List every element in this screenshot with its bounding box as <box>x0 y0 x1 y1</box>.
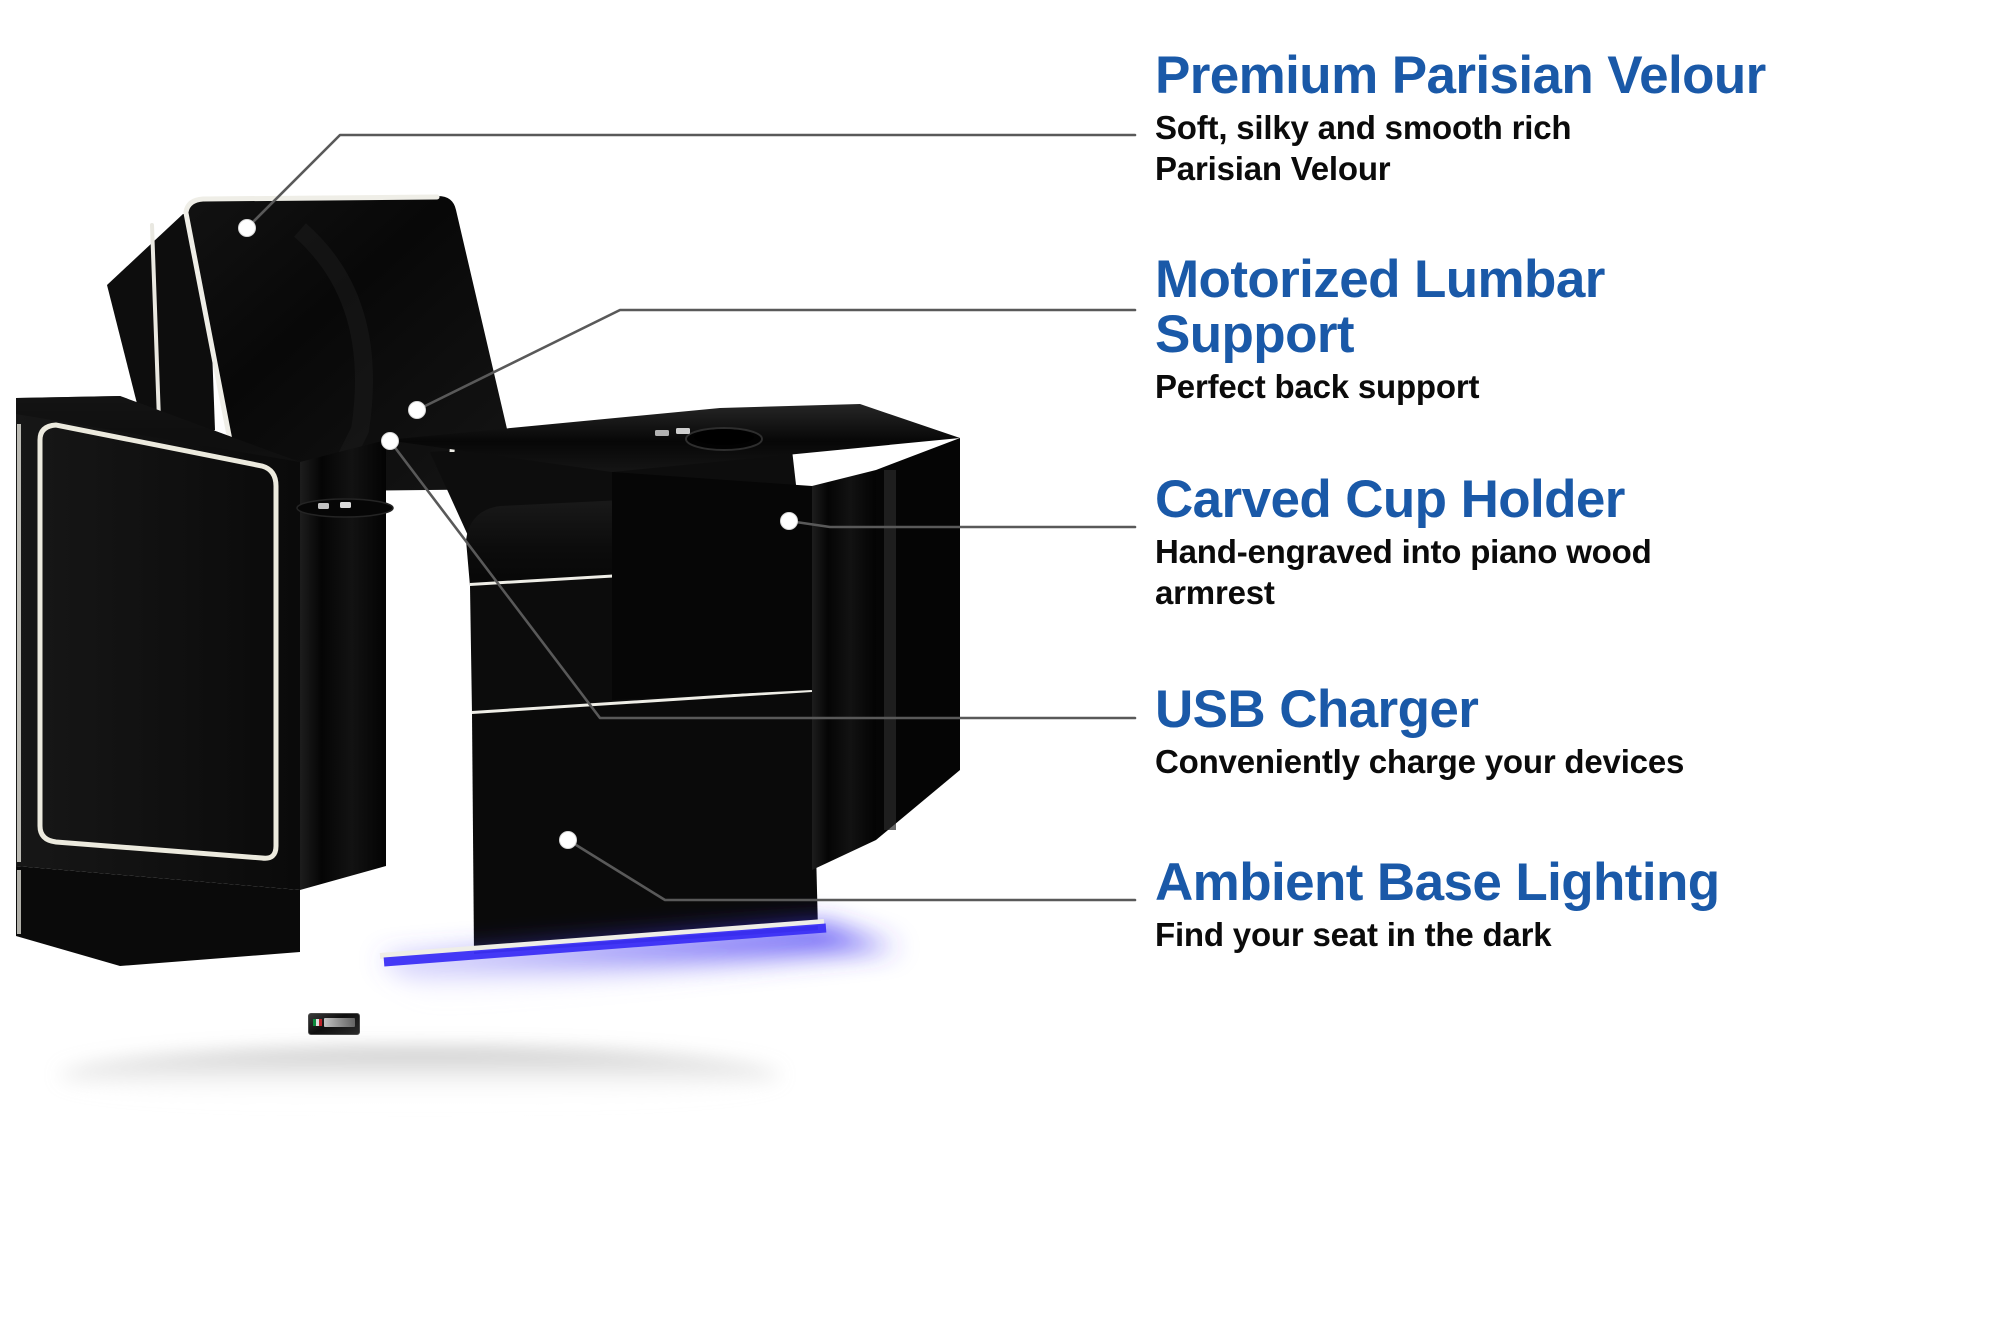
flag-icon <box>313 1019 322 1026</box>
callout-subtitle: Hand-engraved into piano wood armrest <box>1155 532 1985 613</box>
callout-carved-cup-holder: Carved Cup Holder Hand-engraved into pia… <box>1155 472 1985 613</box>
callout-premium-parisian-velour: Premium Parisian Velour Soft, silky and … <box>1155 48 1985 189</box>
product-photo <box>0 0 1120 1180</box>
feature-infographic: Premium Parisian Velour Soft, silky and … <box>0 0 2000 1334</box>
callout-title: USB Charger <box>1155 682 1985 737</box>
control-button-1[interactable] <box>318 503 329 509</box>
brand-wordmark <box>324 1018 355 1027</box>
callout-subtitle: Conveniently charge your devices <box>1155 742 1985 783</box>
brand-badge <box>308 1013 360 1035</box>
callout-motorized-lumbar-support: Motorized Lumbar Support Perfect back su… <box>1155 252 1985 408</box>
callout-subtitle: Perfect back support <box>1155 367 1985 408</box>
left-armrest-outer-panel <box>16 414 300 890</box>
recliner-illustration <box>0 0 1120 1180</box>
callout-title: Carved Cup Holder <box>1155 472 1985 527</box>
callout-title: Premium Parisian Velour <box>1155 48 1985 103</box>
seat-base-skirt <box>472 692 818 954</box>
callout-title: Ambient Base Lighting <box>1155 855 1985 910</box>
cup-holder-inner <box>694 429 754 445</box>
callout-usb-charger: USB Charger Conveniently charge your dev… <box>1155 682 1985 783</box>
callout-ambient-base-lighting: Ambient Base Lighting Find your seat in … <box>1155 855 1985 956</box>
floor-shadow <box>60 1047 780 1103</box>
right-armrest-inner-face <box>812 470 876 870</box>
control-button-2[interactable] <box>340 502 351 508</box>
left-armrest <box>16 396 386 890</box>
callout-subtitle: Find your seat in the dark <box>1155 915 1985 956</box>
callout-title: Motorized Lumbar Support <box>1155 252 1985 362</box>
right-armrest-front-face <box>612 472 812 700</box>
lumbar-control-panel <box>297 499 393 517</box>
callout-subtitle: Soft, silky and smooth rich Parisian Vel… <box>1155 108 1985 189</box>
